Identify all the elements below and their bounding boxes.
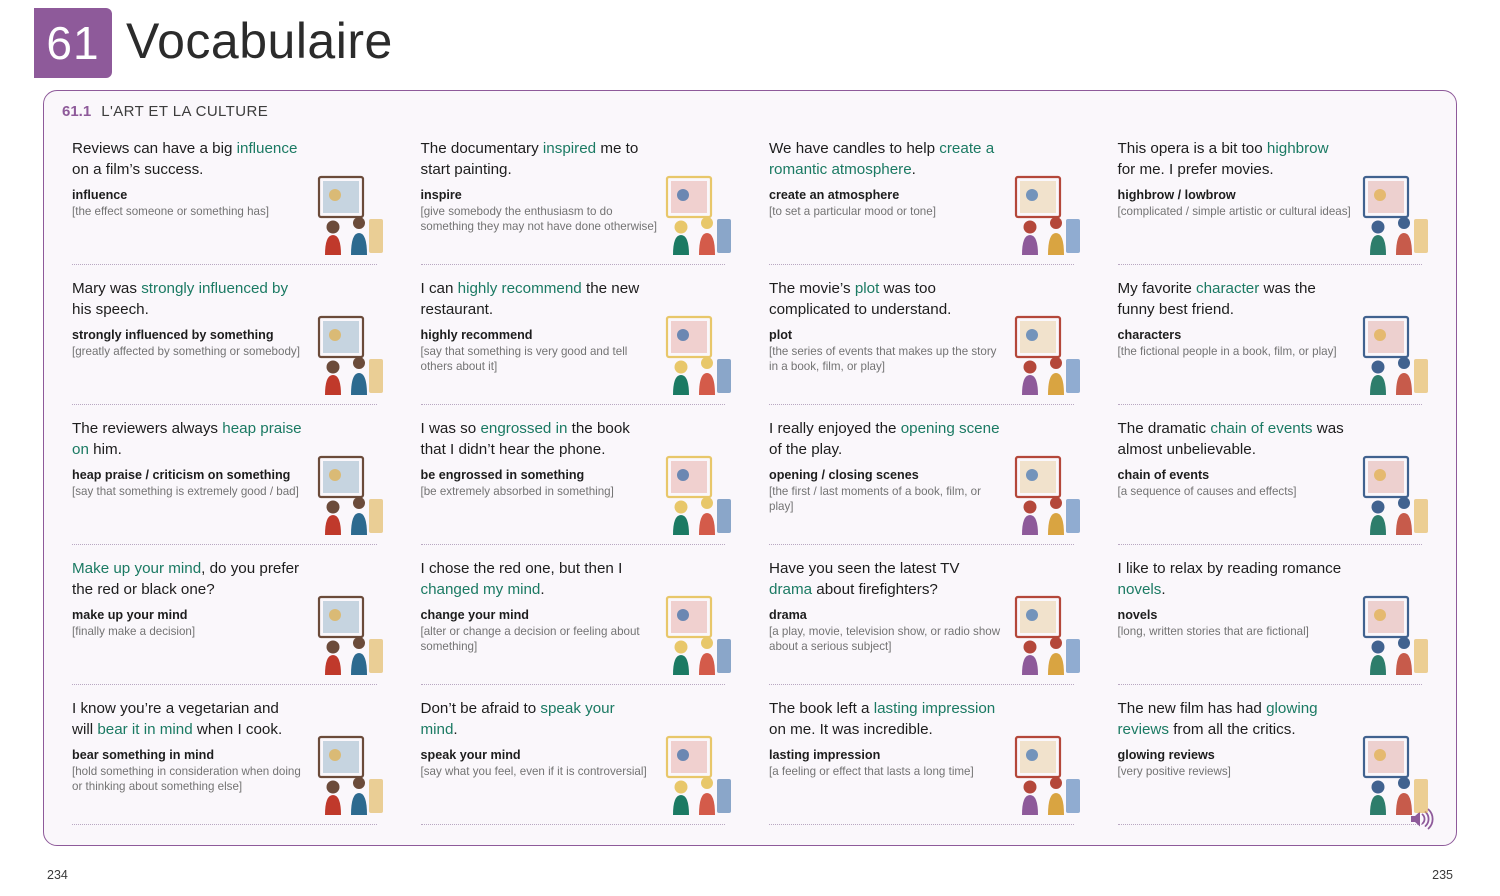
highlighted-term: engrossed in [480,420,567,437]
page-number-left: 234 [47,868,68,882]
vocabulary-entry: I was so engrossed in the book that I di… [407,413,748,553]
entry-term: strongly influenced by something [72,327,310,343]
sentence-text: Have you seen the latest TV [769,560,960,577]
vocabulary-entry: I know you’re a vegetarian and will bear… [58,693,399,833]
entry-term: chain of events [1118,467,1356,483]
entry-definition: [greatly affected by something or somebo… [72,344,310,359]
highlighted-term: novels [1118,581,1162,598]
entry-term: characters [1118,327,1356,343]
sentence-text: The book left a [769,700,874,717]
entry-definition: [say that something is very good and tel… [421,344,659,375]
entry-sentence: We have candles to help create a romanti… [769,139,1001,180]
entry-sentence: I really enjoyed the opening scene of th… [769,419,1001,460]
sentence-text: I can [421,280,458,297]
sentence-text: The movie’s [769,280,855,297]
highlighted-term: strongly influenced by [141,280,288,297]
entry-divider [421,824,726,825]
entry-definition: [long, written stories that are fictiona… [1118,624,1356,639]
sentence-text: of the play. [769,441,842,458]
entry-sentence: I was so engrossed in the book that I di… [421,419,653,460]
sentence-text: from all the critics. [1169,721,1296,738]
page-title: Vocabulaire [126,12,393,70]
vocabulary-grid: Reviews can have a big influence on a fi… [58,133,1444,833]
highlighted-term: character [1196,280,1259,297]
audience-listening-speaker-illustration [311,311,389,397]
sentence-text: Don’t be afraid to [421,700,541,717]
highlighted-term: plot [855,280,880,297]
entry-definition: [be extremely absorbed in something] [421,484,659,499]
vocabulary-entry: This opera is a bit too highbrow for me.… [1104,133,1445,273]
highlighted-term: influence [237,140,298,157]
entry-definition: [a sequence of causes and effects] [1118,484,1356,499]
entry-divider [72,824,377,825]
sentence-text: My favorite [1118,280,1197,297]
sentence-text: him. [89,441,122,458]
entry-sentence: The book left a lasting impression on me… [769,699,1001,740]
two-women-pointing-at-menu-illustration [659,311,737,397]
vocabulary-entry: The documentary inspired me to start pai… [407,133,748,273]
entry-definition: [the series of events that makes up the … [769,344,1007,375]
entry-divider [769,404,1074,405]
sentence-text: This opera is a bit too [1118,140,1267,157]
vocabulary-entry: I like to relax by reading romance novel… [1104,553,1445,693]
entry-term: heap praise / criticism on something [72,467,310,483]
entry-definition: [very positive reviews] [1118,764,1356,779]
entry-definition: [the fictional people in a book, film, o… [1118,344,1356,359]
sentence-text: I really enjoyed the [769,420,901,437]
entry-definition: [a feeling or effect that lasts a long t… [769,764,1007,779]
sentence-text: The new film has had [1118,700,1267,717]
sentence-text: I was so [421,420,481,437]
highlighted-term: drama [769,581,812,598]
painter-at-easel-illustration [659,171,737,257]
entry-sentence: I know you’re a vegetarian and will bear… [72,699,304,740]
entry-divider [72,264,377,265]
entry-term: speak your mind [421,747,659,763]
movie-poster-crowd-illustration [311,171,389,257]
woman-reading-on-sofa-illustration [1356,591,1434,677]
sentence-text: I chose the red one, but then I [421,560,623,577]
excited-person-holding-book-illustration [1008,731,1086,817]
entry-divider [1118,404,1423,405]
entry-term: novels [1118,607,1356,623]
entry-definition: [the effect someone or something has] [72,204,310,219]
entry-sentence: The new film has had glowing reviews fro… [1118,699,1350,740]
entry-sentence: I can highly recommend the new restauran… [421,279,653,320]
sentence-text: The reviewers always [72,420,222,437]
entry-definition: [a play, movie, television show, or radi… [769,624,1007,655]
sentence-text: . [453,721,457,738]
entry-definition: [give somebody the enthusiasm to do some… [421,204,659,235]
sentence-text: Mary was [72,280,141,297]
entry-divider [421,684,726,685]
couple-candlelit-dinner-illustration [1008,171,1086,257]
highlighted-term: lasting impression [874,700,996,717]
vocabulary-entry: The dramatic chain of events was almost … [1104,413,1445,553]
sentence-text: for me. I prefer movies. [1118,161,1274,178]
entry-divider [769,544,1074,545]
sentence-text: on me. It was incredible. [769,721,933,738]
entry-sentence: My favorite character was the funny best… [1118,279,1350,320]
entry-divider [1118,544,1423,545]
page-number-right: 235 [1432,868,1453,882]
highlighted-term: changed my mind [421,581,541,598]
entry-divider [72,684,377,685]
chapter-number-badge: 61 [34,8,112,78]
entry-divider [769,264,1074,265]
sentence-text: . [912,161,916,178]
entry-term: make up your mind [72,607,310,623]
opera-singer-red-dress-illustration [1356,171,1434,257]
section-panel: 61.1 L'ART ET LA CULTURE Reviews can hav… [43,90,1457,846]
entry-sentence: Mary was strongly influenced by his spee… [72,279,304,320]
sentence-text: The documentary [421,140,543,157]
entry-definition: [finally make a decision] [72,624,310,639]
entry-divider [72,404,377,405]
vocabulary-entry: I can highly recommend the new restauran… [407,273,748,413]
entry-divider [421,404,726,405]
vocabulary-entry: My favorite character was the funny best… [1104,273,1445,413]
entry-term: be engrossed in something [421,467,659,483]
entry-sentence: Make up your mind, do you prefer the red… [72,559,304,600]
entry-term: create an atmosphere [769,187,1007,203]
man-on-chair-watching-tv-illustration [1356,451,1434,537]
highlighted-term: highbrow [1267,140,1329,157]
firefighters-with-hose-illustration [1008,591,1086,677]
sentence-text: . [540,581,544,598]
entry-term: inspire [421,187,659,203]
entry-definition: [hold something in consideration when do… [72,764,310,795]
vocabulary-entry: The reviewers always heap praise on him.… [58,413,399,553]
entry-term: influence [72,187,310,203]
vocabulary-entry: Reviews can have a big influence on a fi… [58,133,399,273]
sentence-text: I like to relax by reading romance [1118,560,1342,577]
chapter-number: 61 [46,16,99,70]
entry-sentence: Reviews can have a big influence on a fi… [72,139,304,180]
entry-sentence: This opera is a bit too highbrow for me.… [1118,139,1350,180]
vocabulary-page: 61 Vocabulaire 61.1 L'ART ET LA CULTURE … [0,0,1500,896]
entry-sentence: I chose the red one, but then I changed … [421,559,653,600]
theater-stage-curtain-illustration [1008,451,1086,537]
vocabulary-entry: I chose the red one, but then I changed … [407,553,748,693]
entry-definition: [say that something is extremely good / … [72,484,310,499]
entry-divider [769,824,1074,825]
newspaper-reviews-illustration [311,451,389,537]
entry-sentence: Have you seen the latest TV drama about … [769,559,1001,600]
vocabulary-entry: I really enjoyed the opening scene of th… [755,413,1096,553]
vocabulary-entry: Make up your mind, do you prefer the red… [58,553,399,693]
section-title: L'ART ET LA CULTURE [101,103,268,120]
sentence-text: when I cook. [193,721,283,738]
two-people-cooking-illustration [311,731,389,817]
entry-divider [1118,824,1423,825]
entry-sentence: Don’t be afraid to speak your mind. [421,699,653,740]
person-reading-in-armchair-illustration [659,451,737,537]
entry-sentence: The dramatic chain of events was almost … [1118,419,1350,460]
sentence-text: We have candles to help [769,140,939,157]
entry-term: highbrow / lowbrow [1118,187,1356,203]
entry-term: lasting impression [769,747,1007,763]
vocabulary-entry: The book left a lasting impression on me… [755,693,1096,833]
smartphone-star-ratings-illustration [1356,731,1434,817]
entry-term: change your mind [421,607,659,623]
sentence-text: . [1161,581,1165,598]
entry-divider [421,544,726,545]
entry-term: bear something in mind [72,747,310,763]
section-heading: 61.1 L'ART ET LA CULTURE [62,103,268,120]
vocabulary-entry: We have candles to help create a romanti… [755,133,1096,273]
entry-sentence: The reviewers always heap praise on him. [72,419,304,460]
two-people-talking-illustration [659,731,737,817]
shop-counter-return-illustration [659,591,737,677]
entry-definition: [alter or change a decision or feeling a… [421,624,659,655]
entry-term: drama [769,607,1007,623]
entry-definition: [the first / last moments of a book, fil… [769,484,1007,515]
section-number: 61.1 [62,103,91,120]
two-men-choosing-shirts-illustration [311,591,389,677]
sentence-text: his speech. [72,301,149,318]
vocabulary-entry: Mary was strongly influenced by his spee… [58,273,399,413]
vocabulary-entry: The new film has had glowing reviews fro… [1104,693,1445,833]
highlighted-term: inspired [543,140,596,157]
entry-sentence: The movie’s plot was too complicated to … [769,279,1001,320]
entry-sentence: The documentary inspired me to start pai… [421,139,653,180]
vocabulary-entry: Don’t be afraid to speak your mind.speak… [407,693,748,833]
entry-term: glowing reviews [1118,747,1356,763]
sentence-text: about firefighters? [812,581,938,598]
highlighted-term: highly recommend [458,280,582,297]
entry-definition: [to set a particular mood or tone] [769,204,1007,219]
sentence-text: on a film’s success. [72,161,203,178]
entry-sentence: I like to relax by reading romance novel… [1118,559,1350,600]
entry-term: highly recommend [421,327,659,343]
entry-definition: [complicated / simple artistic or cultur… [1118,204,1356,219]
highlighted-term: Make up your mind [72,560,201,577]
page-header: 61 Vocabulaire [0,0,1500,86]
entry-divider [1118,264,1423,265]
entry-definition: [say what you feel, even if it is contro… [421,764,659,779]
entry-term: plot [769,327,1007,343]
entry-term: opening / closing scenes [769,467,1007,483]
vocabulary-entry: The movie’s plot was too complicated to … [755,273,1096,413]
sentence-text: The dramatic [1118,420,1211,437]
entry-divider [421,264,726,265]
vocabulary-entry: Have you seen the latest TV drama about … [755,553,1096,693]
man-watching-tv-illustration [1008,311,1086,397]
entry-divider [72,544,377,545]
entry-divider [1118,684,1423,685]
sentence-text: Reviews can have a big [72,140,237,157]
highlighted-term: opening scene [901,420,1000,437]
highlighted-term: chain of events [1210,420,1312,437]
entry-divider [769,684,1074,685]
television-screen-scene-illustration [1356,311,1434,397]
highlighted-term: bear it in mind [97,721,192,738]
